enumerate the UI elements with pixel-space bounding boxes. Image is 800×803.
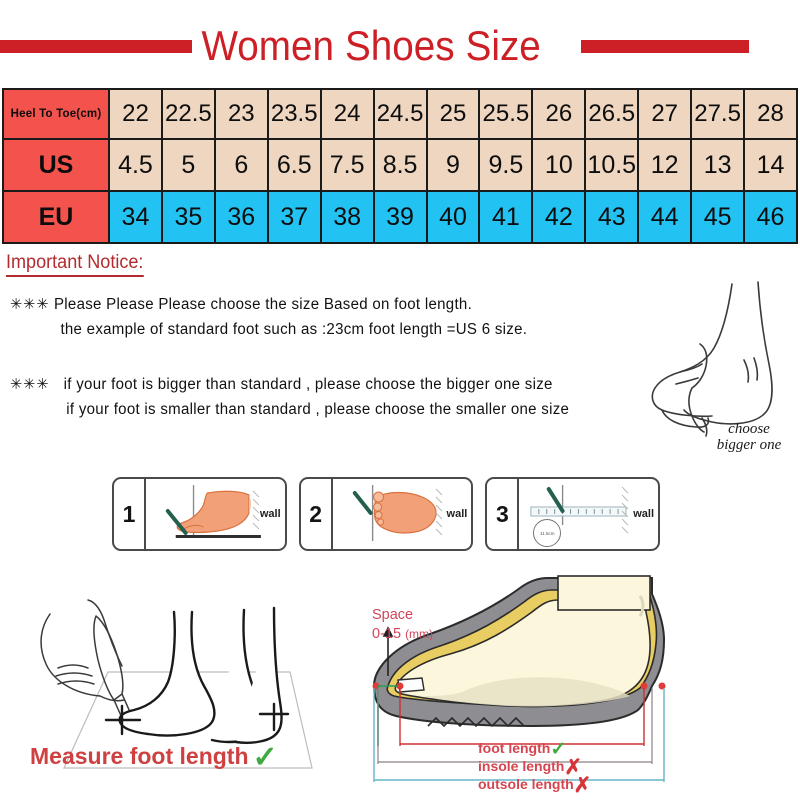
cell-us-11: 13 bbox=[691, 139, 744, 191]
step-body-1: wall bbox=[146, 479, 285, 549]
cross-icon-outsole-length: ✗ bbox=[574, 774, 592, 797]
notice-text-block: ✳✳✳ Please Please Please choose the size… bbox=[10, 292, 690, 422]
cell-eu-12: 46 bbox=[744, 191, 797, 243]
foot-sketch-caption: choose bigger one bbox=[694, 421, 800, 453]
legend-outsole-length-text: outsole length bbox=[478, 776, 574, 792]
cell-eu-4: 38 bbox=[321, 191, 374, 243]
cell-eu-5: 39 bbox=[374, 191, 427, 243]
foot-sketch-caption-line2: bigger one bbox=[694, 437, 800, 453]
measure-foot-caption: Measure foot length✓ bbox=[30, 740, 278, 775]
cell-eu-6: 40 bbox=[427, 191, 480, 243]
asterisk-marker-2: ✳✳✳ bbox=[10, 376, 49, 393]
notice-line-1-text: Please Please Please choose the size Bas… bbox=[54, 296, 472, 313]
cell-us-4: 7.5 bbox=[321, 139, 374, 191]
cell-cm-3: 23.5 bbox=[268, 89, 321, 139]
cell-cm-5: 24.5 bbox=[374, 89, 427, 139]
step-3-wall-label: wall bbox=[633, 508, 654, 520]
legend-insole-length: insole length✗ bbox=[478, 758, 738, 776]
row-label-eu: EU bbox=[3, 191, 109, 243]
asterisk-marker-1: ✳✳✳ bbox=[10, 296, 49, 313]
cell-eu-9: 43 bbox=[585, 191, 638, 243]
size-chart-table: Heel To Toe(cm) 22 22.5 23 23.5 24 24.5 … bbox=[2, 88, 798, 244]
title-rule-left bbox=[0, 40, 192, 53]
legend-insole-length-text: insole length bbox=[478, 758, 564, 774]
cell-us-9: 10.5 bbox=[585, 139, 638, 191]
cell-cm-8: 26 bbox=[532, 89, 585, 139]
cell-cm-6: 25 bbox=[427, 89, 480, 139]
legend-foot-length-text: foot length bbox=[478, 740, 550, 756]
step-number-3: 3 bbox=[487, 479, 519, 549]
table-row-heel-to-toe: Heel To Toe(cm) 22 22.5 23 23.5 24 24.5 … bbox=[3, 89, 797, 139]
cell-eu-10: 44 bbox=[638, 191, 691, 243]
row-label-us: US bbox=[3, 139, 109, 191]
important-notice-heading: Important Notice: bbox=[6, 252, 143, 277]
legend-foot-length: foot length✓ bbox=[478, 740, 738, 758]
notice-line-1: ✳✳✳ Please Please Please choose the size… bbox=[10, 292, 670, 317]
cell-cm-12: 28 bbox=[744, 89, 797, 139]
step-panel-3: 3 bbox=[485, 477, 660, 551]
cell-cm-7: 25.5 bbox=[479, 89, 532, 139]
cell-us-8: 10 bbox=[532, 139, 585, 191]
step-panel-2: 2 wall bbox=[299, 477, 474, 551]
cell-cm-1: 22.5 bbox=[162, 89, 215, 139]
cell-cm-0: 22 bbox=[109, 89, 162, 139]
check-icon: ✓ bbox=[253, 741, 278, 774]
cell-cm-11: 27.5 bbox=[691, 89, 744, 139]
step-panel-1: 1 wall bbox=[112, 477, 287, 551]
cell-eu-11: 45 bbox=[691, 191, 744, 243]
length-legend: foot length✓ insole length✗ outsole leng… bbox=[478, 740, 738, 794]
notice-line-3-text: if your foot is bigger than standard , p… bbox=[54, 376, 553, 393]
cell-us-3: 6.5 bbox=[268, 139, 321, 191]
cell-us-1: 5 bbox=[162, 139, 215, 191]
space-label-line1: Space bbox=[372, 606, 433, 625]
cell-us-7: 9.5 bbox=[479, 139, 532, 191]
measure-steps-row: 1 wall 2 bbox=[112, 477, 660, 551]
cell-cm-10: 27 bbox=[638, 89, 691, 139]
space-label-line2: 0-15 (mm) bbox=[372, 625, 433, 644]
table-row-eu: EU 34 35 36 37 38 39 40 41 42 43 44 45 4… bbox=[3, 191, 797, 243]
step-body-3: 11.5cm wall bbox=[519, 479, 658, 549]
step-number-2: 2 bbox=[301, 479, 333, 549]
space-label-range: 0-15 bbox=[372, 626, 401, 642]
cell-cm-9: 26.5 bbox=[585, 89, 638, 139]
cell-cm-4: 24 bbox=[321, 89, 374, 139]
step-2-wall-label: wall bbox=[447, 508, 468, 520]
space-label-unit: (mm) bbox=[405, 627, 433, 641]
cell-eu-0: 34 bbox=[109, 191, 162, 243]
cell-us-6: 9 bbox=[427, 139, 480, 191]
page-title-banner: WomenShoesSize bbox=[0, 18, 800, 74]
cell-eu-2: 36 bbox=[215, 191, 268, 243]
cell-eu-3: 37 bbox=[268, 191, 321, 243]
table-row-us: US 4.5 5 6 6.5 7.5 8.5 9 9.5 10 10.5 12 … bbox=[3, 139, 797, 191]
cell-us-0: 4.5 bbox=[109, 139, 162, 191]
title-rule-right bbox=[581, 40, 749, 53]
row-label-heel-to-toe: Heel To Toe(cm) bbox=[3, 89, 109, 139]
title-word-women: Women bbox=[196, 22, 339, 69]
foot-sketch-caption-line1: choose bbox=[694, 421, 800, 437]
measure-foot-caption-text: Measure foot length bbox=[30, 743, 249, 769]
page-title: WomenShoesSize bbox=[196, 25, 546, 67]
cell-us-2: 6 bbox=[215, 139, 268, 191]
space-gap-label: Space 0-15 (mm) bbox=[372, 606, 433, 644]
notice-line-2: the example of standard foot such as :23… bbox=[10, 317, 670, 342]
title-word-size: Size bbox=[460, 22, 546, 69]
step-number-1: 1 bbox=[114, 479, 146, 549]
cell-eu-7: 41 bbox=[479, 191, 532, 243]
cell-us-10: 12 bbox=[638, 139, 691, 191]
legend-outsole-length: outsole length✗ bbox=[478, 776, 738, 794]
cell-cm-2: 23 bbox=[215, 89, 268, 139]
notice-line-4: if your foot is smaller than standard , … bbox=[10, 397, 670, 422]
title-word-shoes: Shoes bbox=[339, 22, 460, 69]
notice-line-3: ✳✳✳ if your foot is bigger than standard… bbox=[10, 372, 670, 397]
cell-eu-8: 42 bbox=[532, 191, 585, 243]
cell-us-5: 8.5 bbox=[374, 139, 427, 191]
step-body-2: wall bbox=[333, 479, 472, 549]
cell-us-12: 14 bbox=[744, 139, 797, 191]
step-1-wall-label: wall bbox=[260, 508, 281, 520]
cell-eu-1: 35 bbox=[162, 191, 215, 243]
